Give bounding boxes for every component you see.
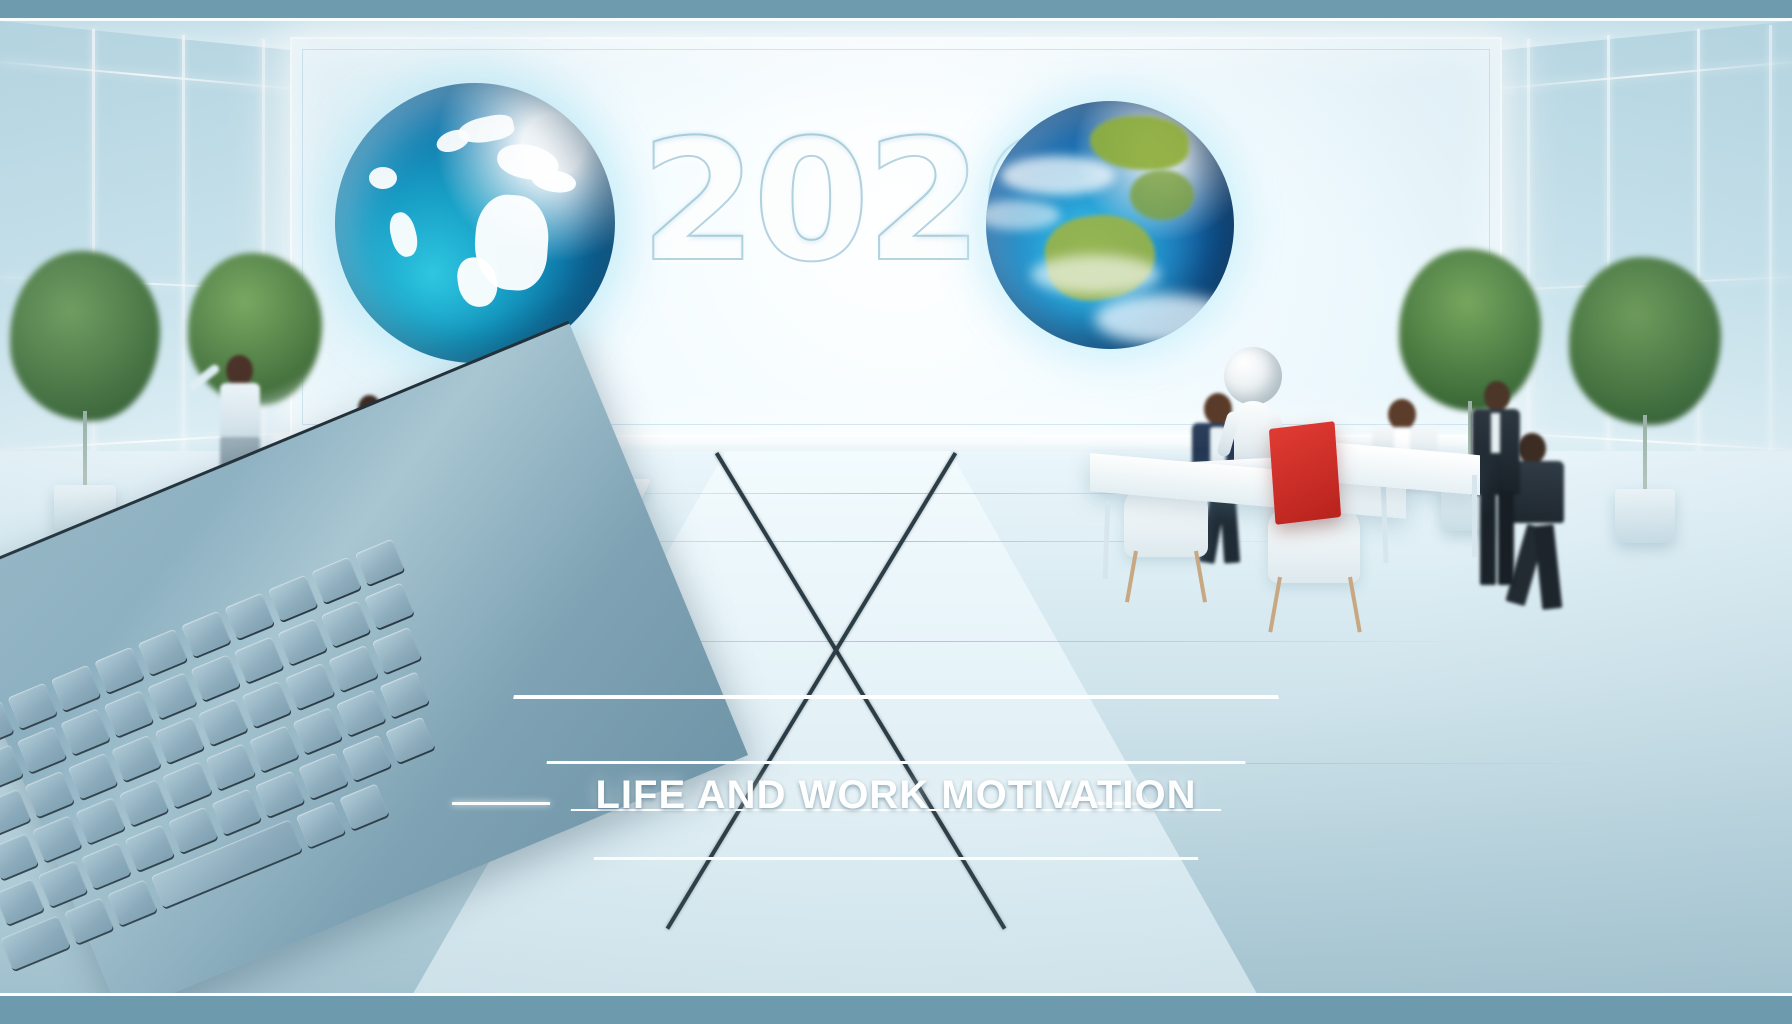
potted-tree-far-left	[10, 251, 160, 541]
globe-cloud	[986, 200, 1060, 230]
leg	[1480, 491, 1496, 585]
globe-landmass	[529, 165, 578, 198]
banner-frame-inner	[576, 857, 1216, 996]
globe-landmass	[1130, 170, 1194, 220]
mannequin-head	[1224, 347, 1282, 405]
globe-americas-icon	[986, 101, 1234, 349]
red-laptop[interactable]	[1269, 421, 1341, 525]
head	[226, 355, 253, 386]
globe-landmass	[386, 209, 421, 259]
wall-mullion-left-2	[182, 35, 185, 479]
globe-landmass	[369, 167, 397, 189]
globe-cloud	[1001, 156, 1115, 196]
globe-europe-africa-icon	[335, 83, 615, 363]
banner-title: LIFE AND WORK MOTIVATION	[0, 773, 1792, 818]
key[interactable]	[268, 575, 318, 622]
leg	[1498, 491, 1514, 585]
table-leg	[1472, 475, 1477, 557]
leg	[1534, 524, 1563, 610]
leg	[1220, 499, 1240, 564]
head	[1484, 381, 1510, 411]
key[interactable]	[277, 618, 327, 665]
key[interactable]	[311, 557, 361, 604]
wall-mullion-right-4	[1769, 25, 1772, 483]
tie	[1491, 413, 1500, 453]
head	[1388, 399, 1416, 430]
scene: 2026	[0, 18, 1792, 996]
year-text: 2026	[640, 117, 1020, 285]
bottom-banner	[0, 661, 1792, 996]
chair-leg	[1125, 551, 1138, 603]
key[interactable]	[321, 600, 371, 647]
globe-cloud	[1031, 255, 1160, 295]
image-canvas: 2026	[0, 0, 1792, 1024]
trunk	[83, 411, 87, 491]
key[interactable]	[355, 539, 405, 586]
table-leg	[1103, 501, 1111, 579]
globe-landmass	[1090, 116, 1189, 171]
foliage	[10, 251, 160, 421]
key[interactable]	[364, 582, 414, 629]
meeting-area	[1090, 351, 1650, 611]
key[interactable]	[181, 611, 231, 658]
globe-cloud	[1095, 294, 1234, 344]
torso	[220, 383, 260, 441]
key[interactable]	[224, 593, 274, 640]
